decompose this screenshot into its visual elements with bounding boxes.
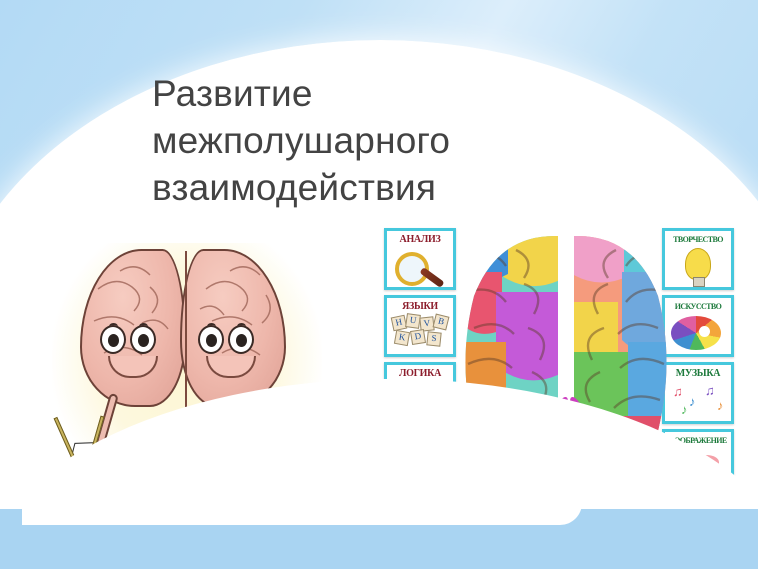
smile-icon xyxy=(206,356,256,378)
left-face xyxy=(86,325,182,385)
cartoon-brain-body xyxy=(80,249,292,409)
card-label: АНАЛИЗ xyxy=(400,231,441,246)
card-label: МУЗЫКА xyxy=(676,365,720,380)
palette-icon xyxy=(665,313,731,354)
card-art: ИСКУССТВО xyxy=(662,295,734,357)
bottom-white-notch xyxy=(22,491,582,525)
card-label: ТВОРЧЕСТВО xyxy=(673,231,723,246)
letter-tiles-icon: H U V B K D S xyxy=(387,313,453,354)
card-analysis: АНАЛИЗ xyxy=(384,228,456,290)
smile-icon xyxy=(108,356,158,378)
card-languages: ЯЗЫКИ H U V B K D S xyxy=(384,295,456,357)
presentation-slide: Развитие межполушарного взаимодействия xyxy=(0,0,758,569)
eye-icon xyxy=(198,325,224,354)
card-label: ИСКУССТВО xyxy=(675,298,722,313)
eye-icon xyxy=(228,325,254,354)
right-face xyxy=(184,325,280,385)
eye-icon xyxy=(100,325,126,354)
magnifier-icon xyxy=(387,246,453,287)
card-music: МУЗЫКА ♫ ♪ ♫ ♪ ♪ xyxy=(662,362,734,424)
page-title: Развитие межполушарного взаимодействия xyxy=(152,70,572,211)
music-notes-icon: ♫ ♪ ♫ ♪ ♪ xyxy=(665,380,731,421)
card-creativity: ТВОРЧЕСТВО xyxy=(662,228,734,290)
card-label: ЯЗЫКИ xyxy=(402,298,438,313)
eye-icon xyxy=(130,325,156,354)
lightbulb-icon xyxy=(665,246,731,287)
card-label: ЛОГИКА xyxy=(399,365,441,380)
